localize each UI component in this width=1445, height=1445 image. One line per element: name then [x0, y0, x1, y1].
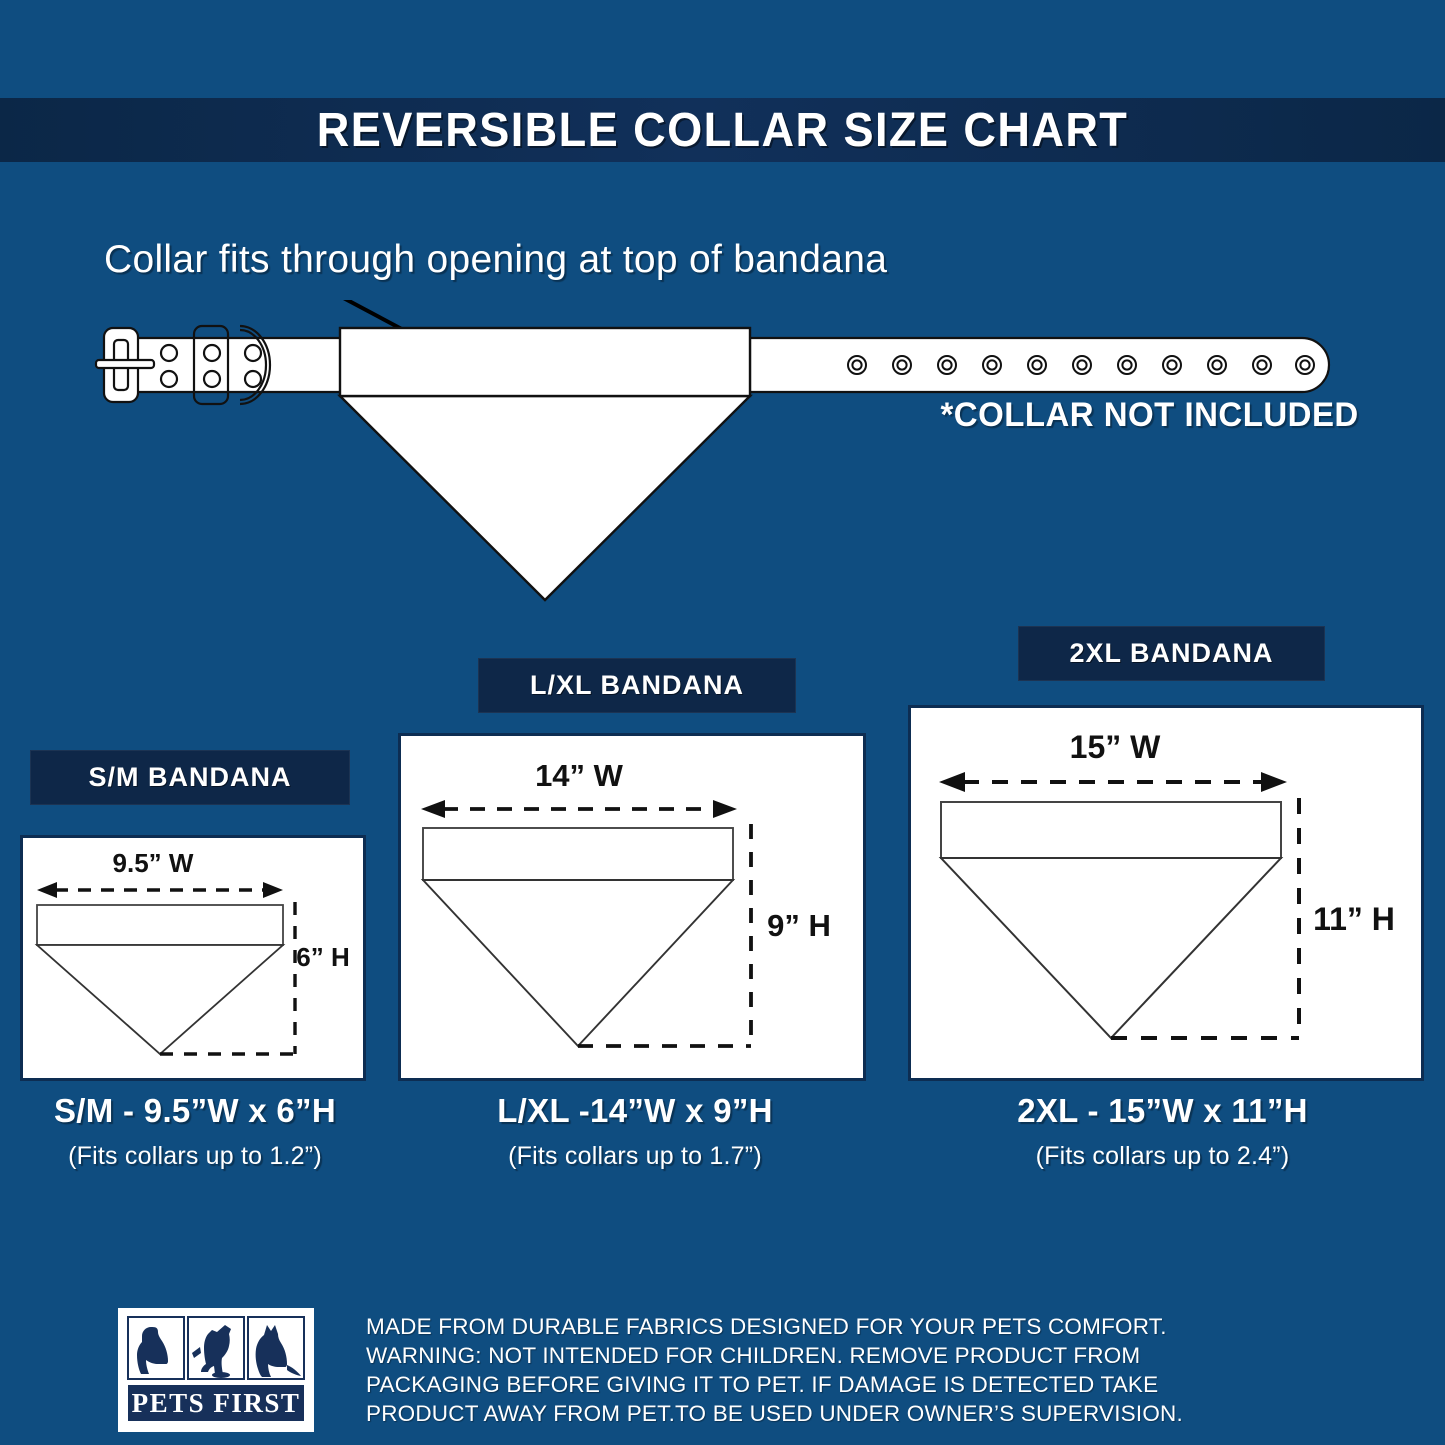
fine-print-line: PRODUCT AWAY FROM PET.TO BE USED UNDER O…	[366, 1399, 1356, 1428]
caption-main-sm: S/M - 9.5”W x 6”H	[0, 1092, 390, 1130]
fine-print-line: WARNING: NOT INTENDED FOR CHILDREN. REMO…	[366, 1341, 1356, 1370]
page-title: REVERSIBLE COLLAR SIZE CHART	[43, 96, 1401, 164]
size-chart-infographic: REVERSIBLE COLLAR SIZE CHART Collar fits…	[0, 0, 1445, 1445]
badge-size-lxl: L/XL BANDANA	[478, 658, 796, 713]
bandana-triangle-2xl	[941, 858, 1281, 1038]
fine-print-line: MADE FROM DURABLE FABRICS DESIGNED FOR Y…	[366, 1312, 1356, 1341]
collar-callout-text: Collar fits through opening at top of ba…	[104, 238, 887, 282]
bandana-sleeve-opening	[340, 328, 750, 396]
height-label-sm: 6” H	[296, 942, 349, 972]
width-dimension-arrow-lxl	[421, 800, 737, 818]
caption-main-lxl: L/XL -14”W x 9”H	[395, 1092, 875, 1130]
bandana-shape	[340, 328, 750, 600]
caption-sub-sm: (Fits collars up to 1.2”)	[0, 1142, 390, 1171]
height-label-2xl: 11” H	[1313, 901, 1395, 937]
width-label-sm: 9.5” W	[113, 848, 194, 878]
bandana-triangle-sm	[37, 945, 283, 1054]
caption-2xl: 2XL - 15”W x 11”H (Fits collars up to 2.…	[890, 1092, 1435, 1171]
caption-sm: S/M - 9.5”W x 6”H (Fits collars up to 1.…	[0, 1092, 390, 1171]
width-label-lxl: 14” W	[535, 758, 624, 793]
height-label-lxl: 9” H	[767, 908, 831, 943]
caption-lxl: L/XL -14”W x 9”H (Fits collars up to 1.7…	[395, 1092, 875, 1171]
pets-first-logo: PETS FIRST	[118, 1308, 314, 1432]
diagram-box-2xl: 15” W 11” H	[908, 705, 1424, 1081]
fine-print-line: PACKAGING BEFORE GIVING IT TO PET. IF DA…	[366, 1370, 1356, 1399]
caption-sub-lxl: (Fits collars up to 1.7”)	[395, 1142, 875, 1171]
width-dimension-arrow-sm	[37, 882, 283, 898]
bandana-sleeve-lxl	[423, 828, 733, 880]
diagram-box-lxl: 14” W 9” H	[398, 733, 866, 1081]
bandana-sleeve-2xl	[941, 802, 1281, 858]
bandana-triangle-lxl	[423, 880, 733, 1046]
caption-main-2xl: 2XL - 15”W x 11”H	[890, 1092, 1435, 1130]
collar-bandana-illustration	[90, 300, 1360, 620]
logo-wordmark: PETS FIRST	[132, 1388, 301, 1418]
width-label-2xl: 15” W	[1070, 729, 1161, 765]
badge-size-2xl: 2XL BANDANA	[1018, 626, 1325, 681]
bandana-sleeve-sm	[37, 905, 283, 945]
caption-sub-2xl: (Fits collars up to 2.4”)	[890, 1142, 1435, 1171]
diagram-box-sm: 9.5” W 6” H	[20, 835, 366, 1081]
bandana-triangle	[340, 396, 750, 600]
width-dimension-arrow-2xl	[939, 772, 1287, 792]
fine-print-disclaimer: MADE FROM DURABLE FABRICS DESIGNED FOR Y…	[366, 1312, 1356, 1428]
badge-size-sm: S/M BANDANA	[30, 750, 350, 805]
